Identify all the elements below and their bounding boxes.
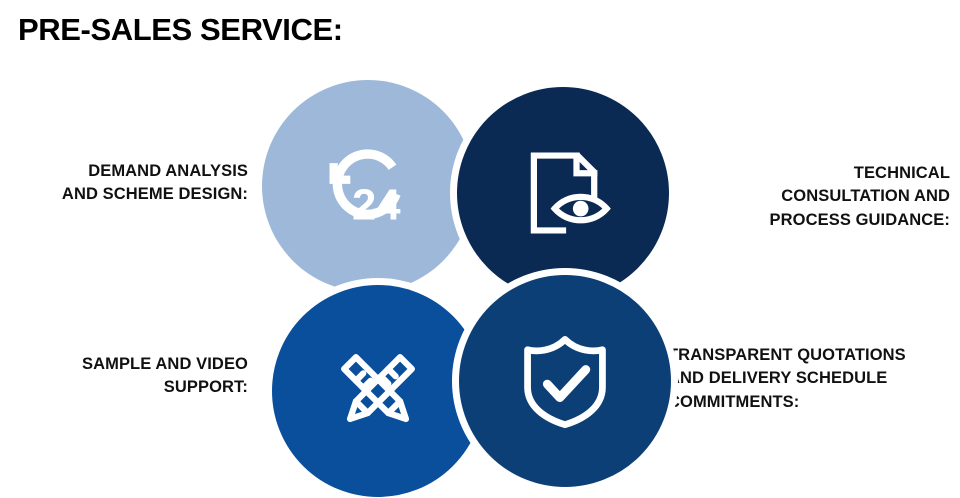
label-line: SAMPLE AND VIDEO xyxy=(0,353,248,376)
label-line: PROCESS GUIDANCE: xyxy=(728,209,950,232)
label-line: AND DELIVERY SCHEDULE xyxy=(668,367,960,390)
svg-text:24: 24 xyxy=(352,180,401,229)
shield-check-icon xyxy=(513,329,617,433)
label-sample-video-support: SAMPLE AND VIDEO SUPPORT: xyxy=(0,353,248,400)
crossed-pencils-icon xyxy=(326,339,430,443)
label-line: AND SCHEME DESIGN: xyxy=(0,183,248,206)
label-line: COMMITMENTS: xyxy=(668,391,960,414)
circle-transparent-quotations[interactable] xyxy=(452,268,678,494)
label-demand-analysis: DEMAND ANALYSIS AND SCHEME DESIGN: xyxy=(0,160,248,207)
rotate-24-hours-icon: 24 xyxy=(316,134,420,238)
label-line: SUPPORT: xyxy=(0,376,248,399)
circle-cluster: 24 xyxy=(262,80,674,490)
label-line: TRANSPARENT QUOTATIONS xyxy=(668,344,960,367)
page-title: PRE-SALES SERVICE: xyxy=(18,12,343,48)
label-transparent-quotations: TRANSPARENT QUOTATIONS AND DELIVERY SCHE… xyxy=(668,344,960,414)
label-technical-consultation: TECHNICAL CONSULTATION AND PROCESS GUIDA… xyxy=(728,162,950,232)
circle-demand-analysis[interactable]: 24 xyxy=(262,80,474,292)
label-line: CONSULTATION AND xyxy=(728,185,950,208)
infographic-page: PRE-SALES SERVICE: 24 xyxy=(0,0,960,498)
label-line: TECHNICAL xyxy=(728,162,950,185)
label-line: DEMAND ANALYSIS xyxy=(0,160,248,183)
document-eye-review-icon xyxy=(511,141,615,245)
